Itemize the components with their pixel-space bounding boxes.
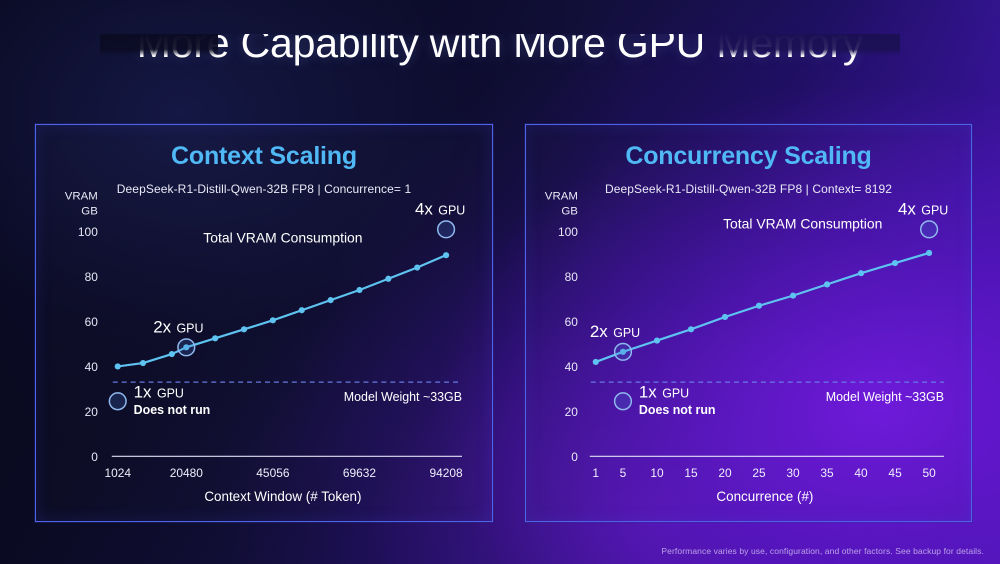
data-point-marker xyxy=(270,317,276,323)
x-axis-tick-label: 35 xyxy=(820,466,834,480)
series-label-total-vram: Total VRAM Consumption xyxy=(203,229,362,245)
vram-consumption-line xyxy=(118,255,446,366)
x-axis-tick-label: 1024 xyxy=(104,466,131,480)
gpu-marker-note: Does not run xyxy=(134,403,211,417)
hollow-circle-icon xyxy=(615,343,632,360)
data-point-marker xyxy=(169,351,175,357)
x-axis-tick-label: 10 xyxy=(650,466,664,480)
hollow-circle-icon xyxy=(615,393,632,410)
data-point-marker xyxy=(688,326,694,332)
data-point-marker xyxy=(299,307,305,313)
x-axis-tick-label: 1 xyxy=(592,466,599,480)
disclaimer-footer: Performance varies by use, configuration… xyxy=(661,546,984,556)
gpu-marker-note: Does not run xyxy=(639,403,716,417)
title-reveal-mask-right xyxy=(702,34,900,56)
x-axis-tick-label: 20 xyxy=(718,466,732,480)
x-axis-tick-label: 5 xyxy=(620,466,627,480)
data-point-marker xyxy=(654,337,660,343)
data-point-marker xyxy=(593,359,599,365)
gpu-marker-label: 4x GPU xyxy=(415,199,465,218)
gpu-marker-1x-gpu[interactable]: 1x GPUDoes not run xyxy=(615,382,716,417)
data-point-marker xyxy=(926,250,932,256)
y-axis-tick-label: 100 xyxy=(558,225,578,239)
x-axis-tick-label: 94208 xyxy=(430,466,464,480)
y-axis-tick-label: 0 xyxy=(571,450,578,464)
model-weight-label: Model Weight ~33GB xyxy=(344,390,462,404)
vram-consumption-line xyxy=(596,253,929,362)
data-point-marker xyxy=(140,360,146,366)
gpu-marker-4x-gpu[interactable]: 4x GPU xyxy=(898,199,948,237)
hollow-circle-icon xyxy=(438,221,455,238)
data-point-marker xyxy=(385,276,391,282)
y-axis-unit-vram: VRAM xyxy=(545,191,578,203)
y-axis-tick-label: 60 xyxy=(565,315,579,329)
y-axis-tick-label: 20 xyxy=(565,405,579,419)
data-point-marker xyxy=(790,293,796,299)
x-axis-tick-label: 15 xyxy=(684,466,698,480)
data-point-marker xyxy=(858,270,864,276)
y-axis-tick-label: 0 xyxy=(91,450,98,464)
data-point-marker xyxy=(328,297,334,303)
data-point-marker xyxy=(212,335,218,341)
panel-concurrency-scaling: Concurrency Scaling DeepSeek-R1-Distill-… xyxy=(525,124,972,522)
hollow-circle-icon xyxy=(178,339,195,356)
y-axis-tick-label: 40 xyxy=(85,360,99,374)
y-axis-tick-label: 40 xyxy=(565,360,579,374)
y-axis-tick-label: 60 xyxy=(85,315,99,329)
data-point-marker xyxy=(241,326,247,332)
chart-plot-concurrency: VRAMGB02040608010015101520253035404550Co… xyxy=(526,125,971,521)
data-point-marker xyxy=(892,260,898,266)
hollow-circle-icon xyxy=(109,393,126,410)
data-point-marker xyxy=(115,363,121,369)
data-point-marker xyxy=(756,303,762,309)
gpu-marker-label: 4x GPU xyxy=(898,199,948,218)
gpu-marker-label: 2x GPU xyxy=(590,322,640,341)
y-axis-tick-label: 100 xyxy=(78,225,98,239)
gpu-marker-label: 1x GPU xyxy=(639,382,689,401)
series-label-total-vram: Total VRAM Consumption xyxy=(723,215,882,231)
gpu-marker-4x-gpu[interactable]: 4x GPU xyxy=(415,199,465,237)
chart-plot-context: VRAMGB0204060801001024204804505669632942… xyxy=(36,125,492,521)
gpu-marker-1x-gpu[interactable]: 1x GPUDoes not run xyxy=(109,382,210,417)
data-point-marker xyxy=(824,281,830,287)
gpu-marker-label: 2x GPU xyxy=(153,317,203,336)
y-axis-unit-gb: GB xyxy=(561,206,578,218)
x-axis-tick-label: 50 xyxy=(922,466,936,480)
hollow-circle-icon xyxy=(921,221,938,238)
y-axis-unit-vram: VRAM xyxy=(65,191,98,203)
title-reveal-mask-left xyxy=(100,34,218,56)
y-axis-tick-label: 20 xyxy=(85,405,99,419)
gpu-marker-2x-gpu[interactable]: 2x GPU xyxy=(153,317,203,355)
data-point-marker xyxy=(443,252,449,258)
gpu-marker-2x-gpu[interactable]: 2x GPU xyxy=(590,322,640,360)
x-axis-tick-label: 69632 xyxy=(343,466,377,480)
x-axis-title: Context Window (# Token) xyxy=(204,489,361,504)
data-point-marker xyxy=(722,314,728,320)
data-point-marker xyxy=(356,287,362,293)
y-axis-unit-gb: GB xyxy=(81,206,98,218)
x-axis-tick-label: 25 xyxy=(752,466,766,480)
x-axis-tick-label: 30 xyxy=(786,466,800,480)
model-weight-label: Model Weight ~33GB xyxy=(826,390,944,404)
slide-canvas: More Capability with More GPU Memory Con… xyxy=(0,0,1000,564)
x-axis-title: Concurrence (#) xyxy=(716,489,813,504)
x-axis-tick-label: 40 xyxy=(854,466,868,480)
x-axis-tick-label: 45056 xyxy=(256,466,290,480)
x-axis-tick-label: 45 xyxy=(888,466,902,480)
x-axis-tick-label: 20480 xyxy=(170,466,204,480)
gpu-marker-label: 1x GPU xyxy=(134,382,184,401)
y-axis-tick-label: 80 xyxy=(565,270,579,284)
data-point-marker xyxy=(414,264,420,270)
y-axis-tick-label: 80 xyxy=(85,270,99,284)
panel-context-scaling: Context Scaling DeepSeek-R1-Distill-Qwen… xyxy=(35,124,493,522)
